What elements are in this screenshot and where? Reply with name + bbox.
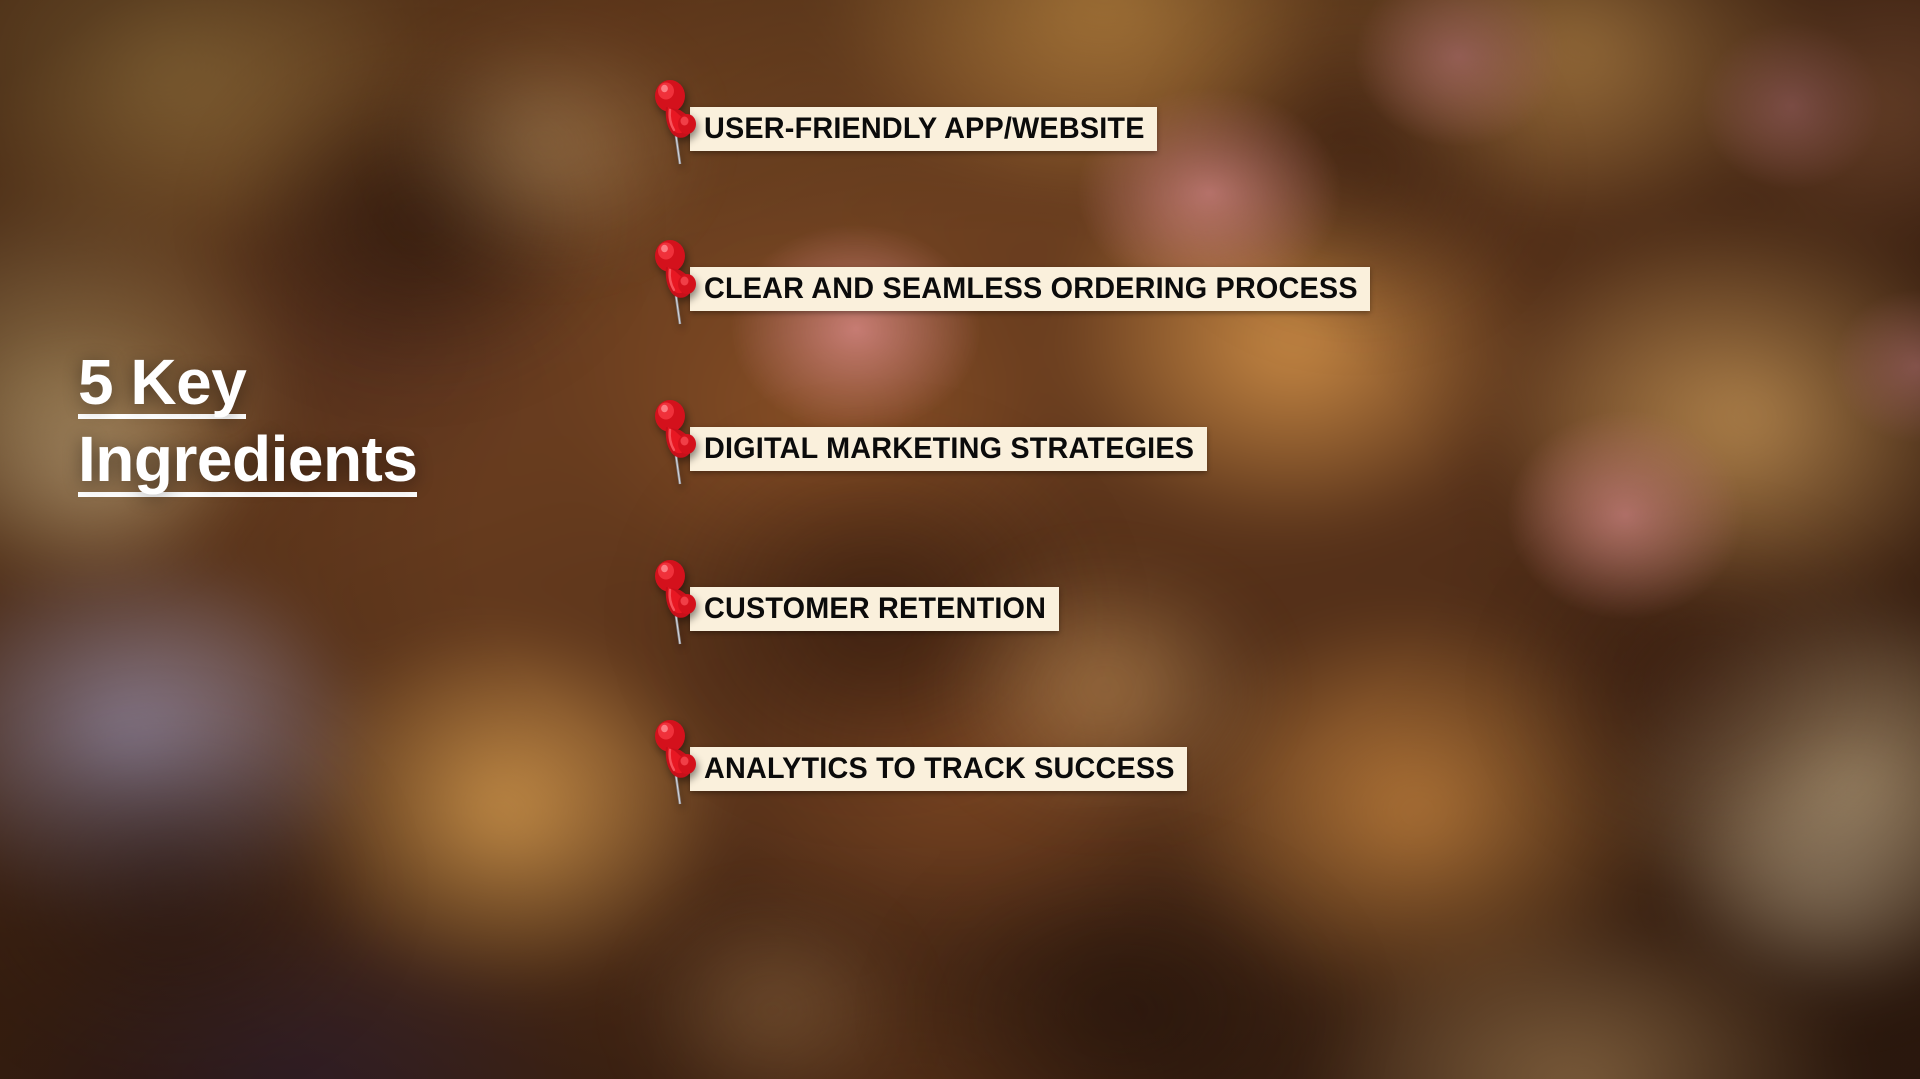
list-item-band: DIGITAL MARKETING STRATEGIES	[690, 427, 1207, 471]
list-item-band: USER-FRIENDLY APP/WEBSITE	[690, 107, 1157, 151]
list-item-label: CUSTOMER RETENTION	[704, 592, 1046, 626]
pushpin-icon	[646, 554, 704, 646]
list-item-label: ANALYTICS TO TRACK SUCCESS	[704, 752, 1175, 786]
list-item[interactable]: CLEAR AND SEAMLESS ORDERING PROCESS	[646, 256, 1886, 322]
pushpin-icon	[646, 234, 704, 326]
list-item-band: CUSTOMER RETENTION	[690, 587, 1059, 631]
list-item-label: CLEAR AND SEAMLESS ORDERING PROCESS	[704, 272, 1358, 306]
list-item-band: CLEAR AND SEAMLESS ORDERING PROCESS	[690, 267, 1370, 311]
list-item[interactable]: ANALYTICS TO TRACK SUCCESS	[646, 736, 1886, 802]
pushpin-icon	[646, 74, 704, 166]
pushpin-icon	[646, 394, 704, 486]
title-line-one-text: 5 Key	[78, 352, 246, 419]
list-item[interactable]: USER-FRIENDLY APP/WEBSITE	[646, 96, 1886, 162]
page-title: 5 Key Ingredients	[78, 352, 718, 497]
list-item[interactable]: DIGITAL MARKETING STRATEGIES	[646, 416, 1886, 482]
ingredients-list: USER-FRIENDLY APP/WEBSITE CLEAR AND SEAM…	[646, 96, 1886, 802]
slide-canvas: 5 Key Ingredients USER-FRIENDLY APP/WEBS…	[0, 0, 1920, 1079]
list-item-band: ANALYTICS TO TRACK SUCCESS	[690, 747, 1187, 791]
title-line-one: 5 Key	[78, 352, 718, 419]
pushpin-icon	[646, 714, 704, 806]
list-item-label: DIGITAL MARKETING STRATEGIES	[704, 432, 1194, 466]
list-item-label: USER-FRIENDLY APP/WEBSITE	[704, 112, 1145, 146]
title-line-two-text: Ingredients	[78, 429, 417, 496]
title-line-two: Ingredients	[78, 429, 718, 496]
list-item[interactable]: CUSTOMER RETENTION	[646, 576, 1886, 642]
